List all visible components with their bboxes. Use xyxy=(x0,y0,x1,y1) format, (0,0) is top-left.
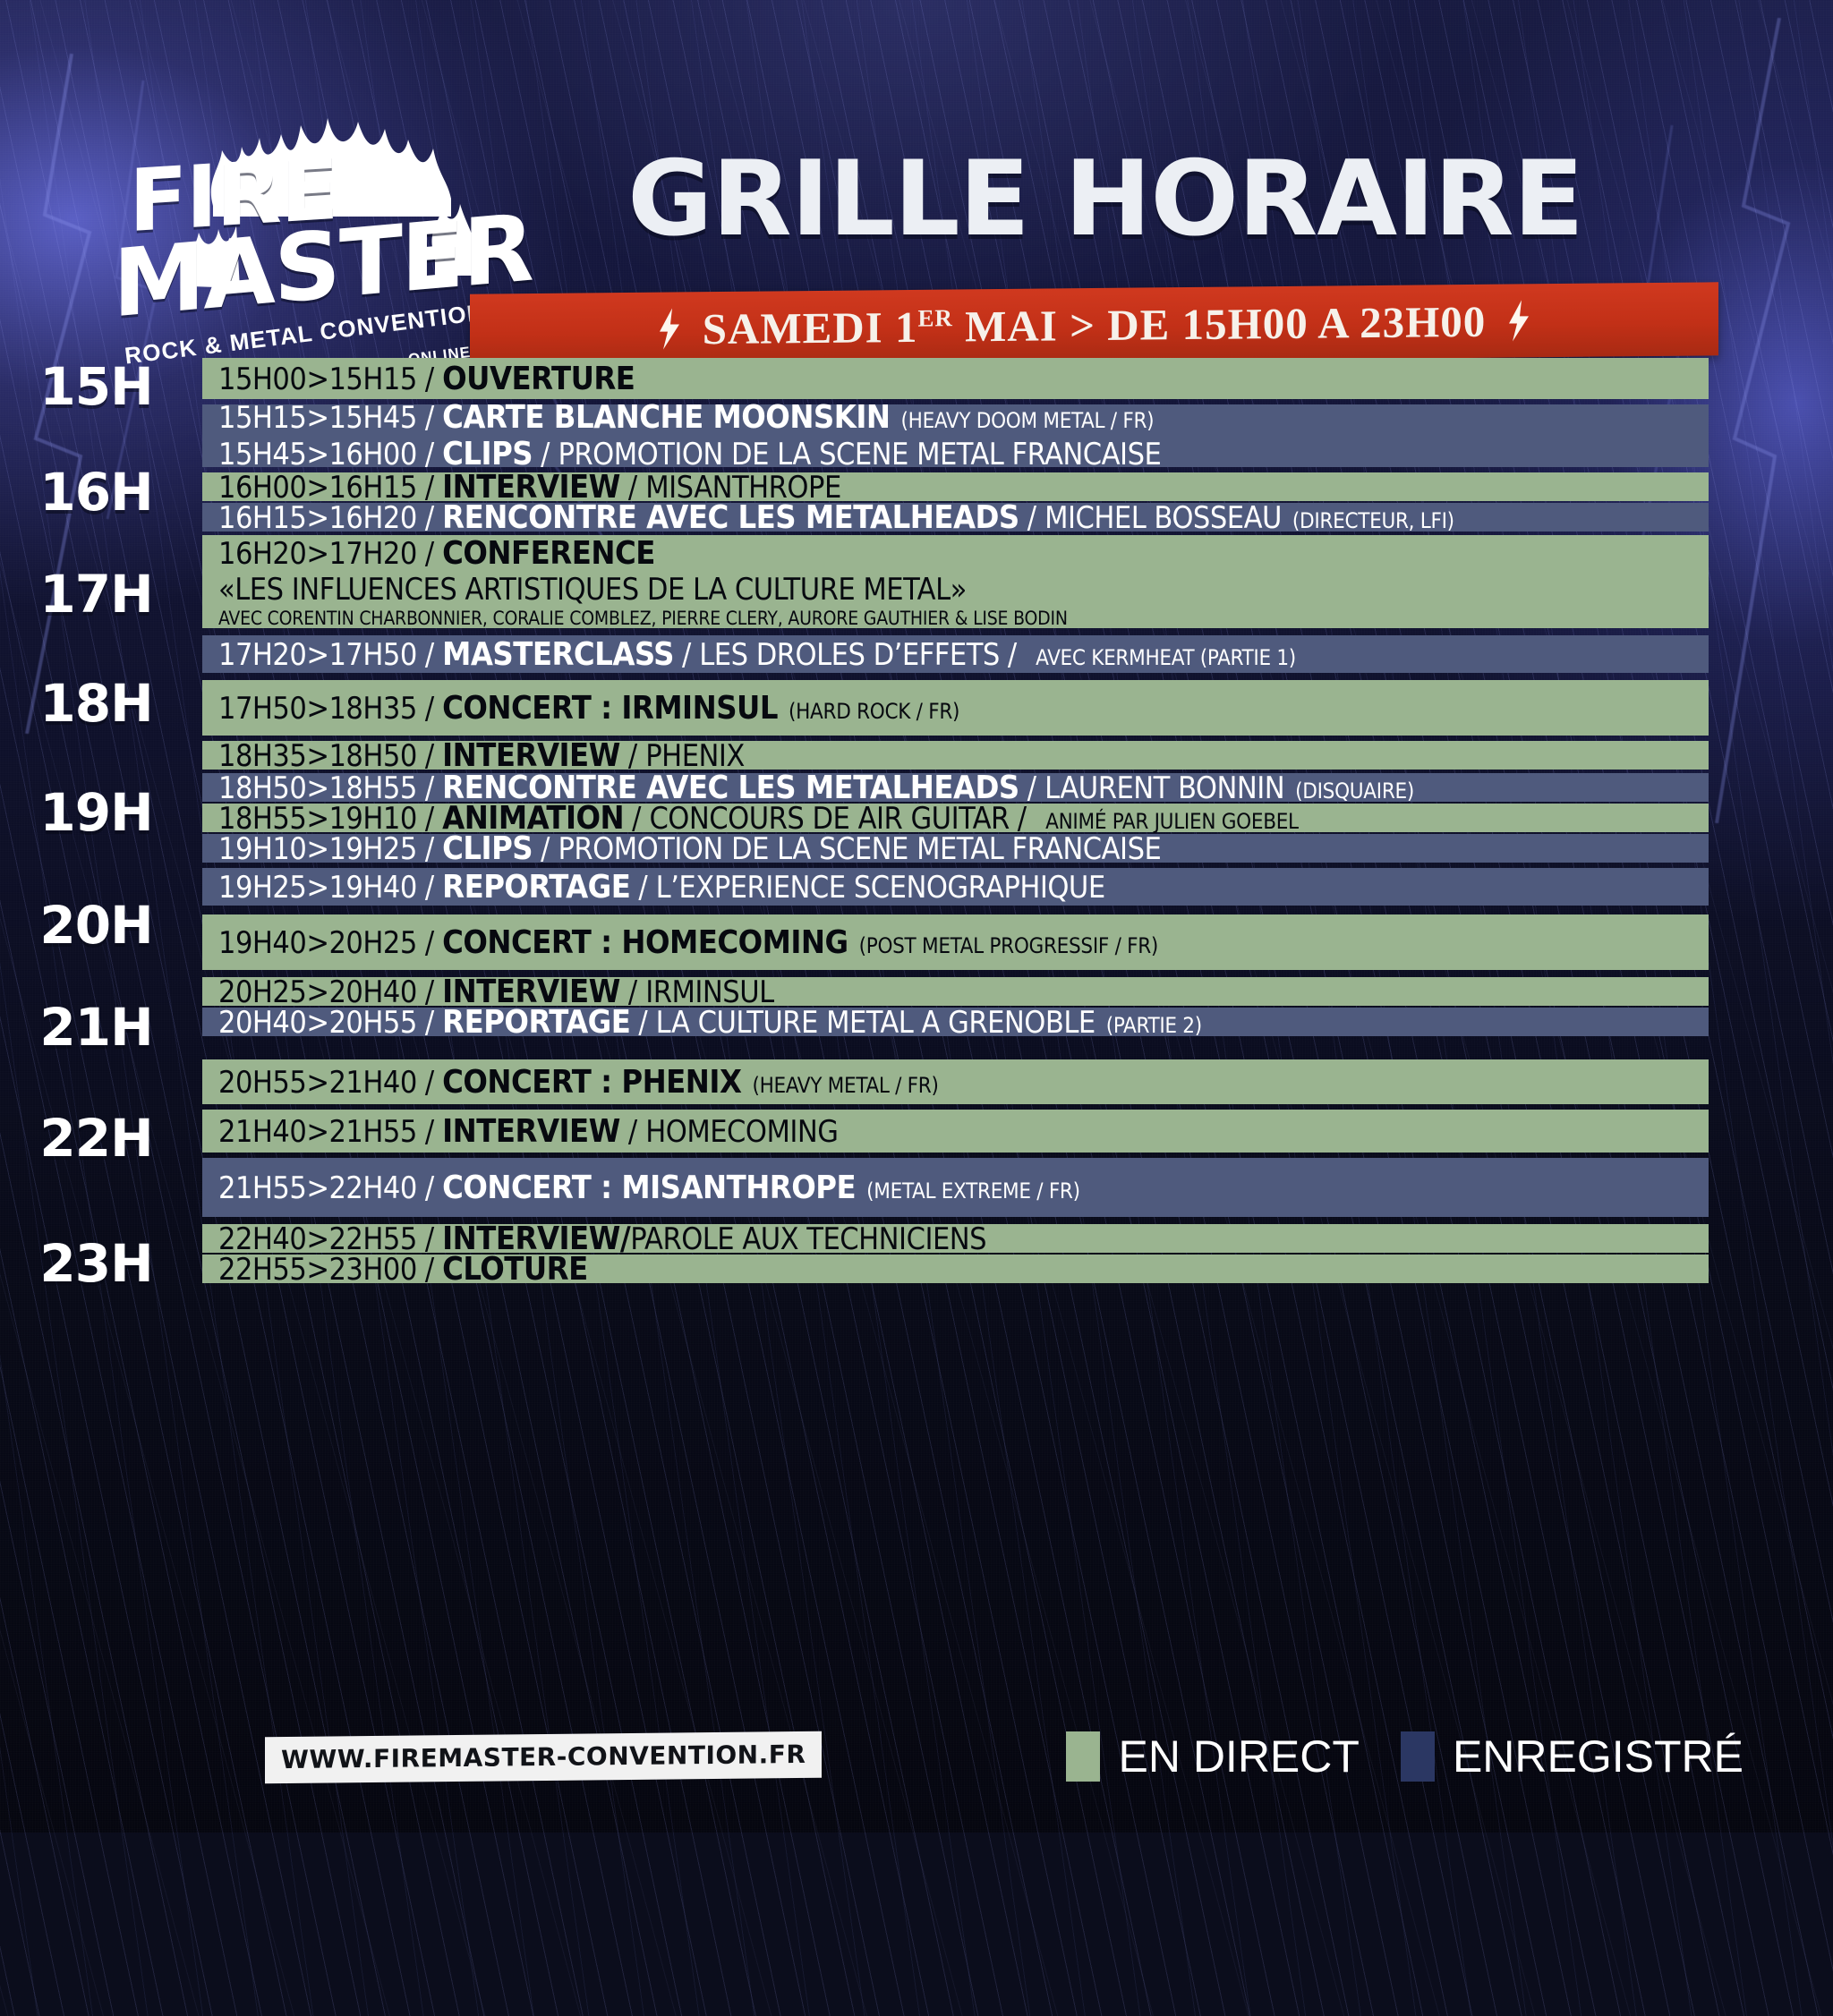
slot-subtitle: L’EXPERIENCE SCENOGRAPHIQUE xyxy=(656,870,1105,906)
schedule-line: 19H10>19H25/CLIPS/PROMOTION DE LA SCENE … xyxy=(218,830,1161,867)
lightning-bolt-icon-right xyxy=(1507,300,1530,341)
date-prefix: SAMEDI 1 xyxy=(703,302,918,353)
schedule-row: 17H50>18H35/CONCERT : IRMINSUL(HARD ROCK… xyxy=(202,680,1709,736)
slot-separator: / xyxy=(417,831,442,867)
hour-label-22h: 22H xyxy=(0,1108,192,1169)
poster-footer: WWW.FIREMASTER-CONVENTION.FR EN DIRECTEN… xyxy=(0,1727,1833,1833)
date-suffix: MAI > DE 15H00 A 23H00 xyxy=(953,296,1486,351)
slot-separator-2: / xyxy=(533,831,558,867)
schedule-line: 16H20>17H20/CONFERENCE xyxy=(218,535,655,572)
slot-subtitle: LA CULTURE METAL A GRENOBLE xyxy=(656,1005,1096,1041)
schedule-row: 20H40>20H55/REPORTAGE/LA CULTURE METAL A… xyxy=(202,1008,1709,1036)
legend-item-recorded: ENREGISTRÉ xyxy=(1401,1731,1743,1782)
slot-subtitle: PAROLE AUX TECHNICIENS xyxy=(630,1221,986,1257)
slot-separator: / xyxy=(417,925,442,961)
schedule-line: 20H40>20H55/REPORTAGE/LA CULTURE METAL A… xyxy=(218,1004,1202,1041)
slot-separator: / xyxy=(417,637,442,673)
slot-separator: / xyxy=(417,1114,442,1150)
schedule-row: 16H15>16H20/RENCONTRE AVEC LES METALHEAD… xyxy=(202,503,1709,532)
schedule-row: 17H20>17H50/MASTERCLASS/LES DROLES D’EFF… xyxy=(202,635,1709,673)
schedule-line: 21H40>21H55/INTERVIEW/HOMECOMING xyxy=(218,1113,838,1150)
slot-time: 17H50>18H35 xyxy=(218,691,417,727)
schedule-row: 21H55>22H40/CONCERT : MISANTHROPE(METAL … xyxy=(202,1158,1709,1217)
firemaster-logo: FIRE MASTER ROCK & METAL CONVENTION ONLI… xyxy=(106,98,499,349)
slot-time: 15H45>16H00 xyxy=(218,437,417,472)
schedule-line: 19H40>20H25/CONCERT : HOMECOMING(POST ME… xyxy=(218,924,1158,961)
slot-time: 19H10>19H25 xyxy=(218,831,417,867)
slot-note: (POST METAL PROGRESSIF / FR) xyxy=(859,933,1158,958)
slot-time: 19H25>19H40 xyxy=(218,870,417,906)
legend-label-recorded: ENREGISTRÉ xyxy=(1453,1731,1743,1782)
slot-separator-3: / xyxy=(1000,637,1025,673)
schedule-row: 15H00>15H15/OUVERTURE xyxy=(202,358,1709,399)
slot-title: RENCONTRE AVEC LES METALHEADS xyxy=(442,499,1019,536)
slot-separator-2: / xyxy=(630,870,655,906)
slot-quote: «LES INFLUENCES ARTISTIQUES DE LA CULTUR… xyxy=(218,572,967,608)
slot-time: 22H55>23H00 xyxy=(218,1252,417,1288)
schedule-line: 18H35>18H50/INTERVIEW/PHENIX xyxy=(218,737,745,774)
slot-title: INTERVIEW xyxy=(442,1113,620,1150)
schedule-row: 16H20>17H20/CONFERENCE«LES INFLUENCES AR… xyxy=(202,535,1709,628)
slot-note: (PARTIE 2) xyxy=(1106,1013,1202,1038)
slot-separator: / xyxy=(417,536,442,572)
schedule-row: 20H55>21H40/CONCERT : PHENIX(HEAVY METAL… xyxy=(202,1059,1709,1104)
slot-time: 16H20>17H20 xyxy=(218,536,417,572)
slot-title: CONCERT : IRMINSUL xyxy=(442,690,778,727)
slot-title: CONFERENCE xyxy=(442,535,655,572)
date-banner-text: SAMEDI 1ER MAI > DE 15H00 A 23H00 xyxy=(658,295,1531,354)
slot-time: 21H55>22H40 xyxy=(218,1170,417,1206)
slot-time: 20H40>20H55 xyxy=(218,1005,417,1041)
schedule-line: 20H55>21H40/CONCERT : PHENIX(HEAVY METAL… xyxy=(218,1064,939,1101)
legend-swatch-recorded xyxy=(1401,1731,1435,1782)
page-title: GRILLE HORAIRE xyxy=(470,148,1741,251)
slot-separator-2: / xyxy=(1019,500,1044,536)
schedule-row: 18H35>18H50/INTERVIEW/PHENIX xyxy=(202,741,1709,770)
slot-time: 21H40>21H55 xyxy=(218,1114,417,1150)
date-text: SAMEDI 1ER MAI > DE 15H00 A 23H00 xyxy=(703,295,1487,353)
schedule-line: 15H00>15H15/OUVERTURE xyxy=(218,361,635,397)
schedule-row: 18H55>19H10/ANIMATION/CONCOURS DE AIR GU… xyxy=(202,804,1709,832)
slot-separator-2: / xyxy=(533,437,558,472)
slot-subtitle: PROMOTION DE LA SCENE METAL FRANCAISE xyxy=(558,831,1161,867)
legend-swatch-live xyxy=(1066,1731,1100,1782)
slot-title: MASTERCLASS xyxy=(442,636,674,673)
slot-title: OUVERTURE xyxy=(442,361,635,397)
legend-label-live: EN DIRECT xyxy=(1118,1731,1359,1782)
website-url[interactable]: WWW.FIREMASTER-CONVENTION.FR xyxy=(265,1731,822,1784)
schedule-line: 17H20>17H50/MASTERCLASS/LES DROLES D’EFF… xyxy=(218,636,1296,673)
schedule-row: 21H40>21H55/INTERVIEW/HOMECOMING xyxy=(202,1110,1709,1153)
hour-label-17h: 17H xyxy=(0,564,192,625)
schedule-line: 15H15>15H45/CARTE BLANCHE MOONSKIN(HEAVY… xyxy=(218,399,1154,436)
schedule-line: «LES INFLUENCES ARTISTIQUES DE LA CULTUR… xyxy=(218,572,967,608)
slot-subtitle: LES DROLES D’EFFETS xyxy=(699,637,1000,673)
slot-subtitle: HOMECOMING xyxy=(645,1114,838,1150)
slot-separator-2: / xyxy=(620,1114,645,1150)
schedule-row: 19H10>19H25/CLIPS/PROMOTION DE LA SCENE … xyxy=(202,834,1709,863)
slot-time: 20H55>21H40 xyxy=(218,1065,417,1101)
slot-title: CONCERT : HOMECOMING xyxy=(442,924,848,961)
schedule-row: 18H50>18H55/RENCONTRE AVEC LES METALHEAD… xyxy=(202,773,1709,802)
slot-title: CLIPS xyxy=(442,436,533,472)
hour-label-21h: 21H xyxy=(0,997,192,1058)
slot-separator: / xyxy=(417,1005,442,1041)
slot-credits: AVEC CORENTIN CHARBONNIER, CORALIE COMBL… xyxy=(218,608,1068,629)
hour-label-18h: 18H xyxy=(0,673,192,734)
schedule-line: 21H55>22H40/CONCERT : MISANTHROPE(METAL … xyxy=(218,1170,1080,1206)
slot-title: INTERVIEW xyxy=(442,737,620,774)
legend: EN DIRECTENREGISTRÉ xyxy=(1066,1731,1743,1782)
schedule-row: 20H25>20H40/INTERVIEW/IRMINSUL xyxy=(202,977,1709,1006)
hour-label-19h: 19H xyxy=(0,782,192,843)
slot-subtitle: PHENIX xyxy=(645,738,745,774)
slot-separator: / xyxy=(417,1170,442,1206)
slot-separator-2: / xyxy=(620,738,645,774)
schedule-line: 15H45>16H00/CLIPS/PROMOTION DE LA SCENE … xyxy=(218,436,1161,472)
slot-title: CONCERT : PHENIX xyxy=(442,1064,741,1101)
slot-title: CLIPS xyxy=(442,830,533,867)
slot-note: (METAL EXTREME / FR) xyxy=(866,1178,1080,1204)
slot-time: 17H20>17H50 xyxy=(218,637,417,673)
slot-separator: / xyxy=(417,870,442,906)
slot-separator: / xyxy=(417,1252,442,1288)
slot-separator: / xyxy=(417,1065,442,1101)
slot-note: (DIRECTEUR, LFI) xyxy=(1292,508,1454,533)
slot-time: 15H15>15H45 xyxy=(218,400,417,436)
hour-label-15h: 15H xyxy=(0,356,192,417)
schedule-line: 17H50>18H35/CONCERT : IRMINSUL(HARD ROCK… xyxy=(218,690,959,727)
legend-item-live: EN DIRECT xyxy=(1066,1731,1359,1782)
schedule-row: 16H00>16H15/INTERVIEW/MISANTHROPE xyxy=(202,472,1709,501)
slot-title: CARTE BLANCHE MOONSKIN xyxy=(442,399,890,436)
schedule-row: 19H25>19H40/REPORTAGE/L’EXPERIENCE SCENO… xyxy=(202,868,1709,906)
hour-label-20h: 20H xyxy=(0,895,192,956)
slot-note: (HARD ROCK / FR) xyxy=(789,699,959,724)
slot-note: (HEAVY METAL / FR) xyxy=(752,1073,938,1098)
slot-separator: / xyxy=(417,738,442,774)
schedule-row: 15H15>15H45/CARTE BLANCHE MOONSKIN(HEAVY… xyxy=(202,404,1709,467)
slot-separator: / xyxy=(417,437,442,472)
slot-title: REPORTAGE xyxy=(442,869,630,906)
slot-title: CLOTURE xyxy=(442,1251,588,1288)
schedule-line: 16H15>16H20/RENCONTRE AVEC LES METALHEAD… xyxy=(218,499,1454,536)
hour-label-16h: 16H xyxy=(0,462,192,523)
slot-note: (HEAVY DOOM METAL / FR) xyxy=(901,408,1155,433)
slot-time: 19H40>20H25 xyxy=(218,925,417,961)
slot-time: 18H35>18H50 xyxy=(218,738,417,774)
slot-separator-2: / xyxy=(630,1005,655,1041)
lightning-bolt-icon-left xyxy=(658,308,681,349)
slot-separator: / xyxy=(417,400,442,436)
schedule-row: 22H40>22H55/INTERVIEW/PAROLE AUX TECHNIC… xyxy=(202,1224,1709,1253)
slot-separator: / xyxy=(417,500,442,536)
slot-separator: / xyxy=(417,362,442,397)
slot-note: AVEC KERMHEAT (PARTIE 1) xyxy=(1036,645,1296,670)
schedule-row: 19H40>20H25/CONCERT : HOMECOMING(POST ME… xyxy=(202,914,1709,970)
hour-label-23h: 23H xyxy=(0,1233,192,1294)
schedule-line: 22H55>23H00/CLOTURE xyxy=(218,1251,588,1288)
slot-subtitle: MICHEL BOSSEAU xyxy=(1044,500,1282,536)
slot-time: 15H00>15H15 xyxy=(218,362,417,397)
slot-separator: / xyxy=(417,691,442,727)
slot-title: CONCERT : MISANTHROPE xyxy=(442,1170,856,1206)
schedule-row: 22H55>23H00/CLOTURE xyxy=(202,1255,1709,1283)
schedule-line: 19H25>19H40/REPORTAGE/L’EXPERIENCE SCENO… xyxy=(218,869,1105,906)
slot-time: 16H15>16H20 xyxy=(218,500,417,536)
slot-subtitle: PROMOTION DE LA SCENE METAL FRANCAISE xyxy=(558,437,1161,472)
slot-title: REPORTAGE xyxy=(442,1004,630,1041)
date-banner: SAMEDI 1ER MAI > DE 15H00 A 23H00 xyxy=(470,282,1718,367)
slot-separator-2: / xyxy=(674,637,699,673)
date-ordinal: ER xyxy=(917,304,952,331)
slot-note: (DISQUAIRE) xyxy=(1295,778,1414,804)
schedule-line: AVEC CORENTIN CHARBONNIER, CORALIE COMBL… xyxy=(218,608,1068,629)
